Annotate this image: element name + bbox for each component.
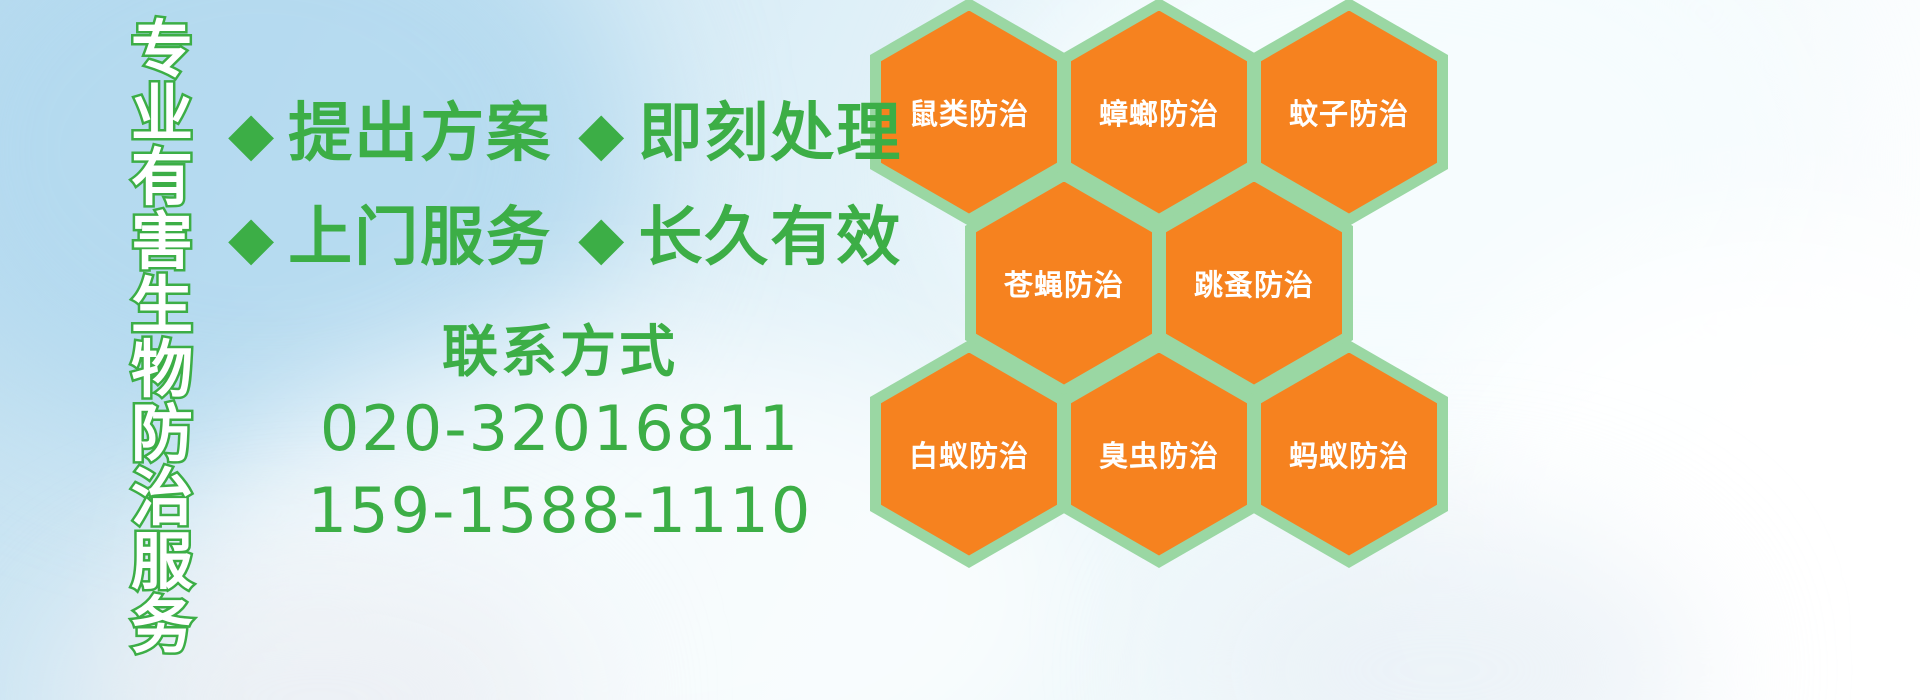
hex-inner: 蟑螂防治 xyxy=(1071,11,1247,214)
contact-label: 联系方式 xyxy=(300,318,820,388)
diamond-bullet-icon: ◆ xyxy=(228,104,274,164)
slogan-text: 上门服务 xyxy=(288,206,552,270)
hex-inner: 臭虫防治 xyxy=(1071,353,1247,556)
diamond-bullet-icon: ◆ xyxy=(578,208,624,268)
slogan-list: ◆ 提出方案 ◆ 即刻处理 ◆ 上门服务 ◆ 长久有效 xyxy=(228,82,928,290)
vertical-headline-char: 务 xyxy=(131,594,193,658)
slogan-text: 长久有效 xyxy=(638,206,902,270)
service-label: 蟑螂防治 xyxy=(1099,91,1219,133)
service-label: 苍蝇防治 xyxy=(1004,262,1124,304)
hex-inner: 蚂蚁防治 xyxy=(1261,353,1437,556)
vertical-headline-char: 防 xyxy=(131,402,193,466)
hex-inner: 蚊子防治 xyxy=(1261,11,1437,214)
service-label: 蚊子防治 xyxy=(1289,91,1409,133)
hex-inner: 苍蝇防治 xyxy=(976,182,1152,385)
background-blob xyxy=(1420,220,1920,700)
contact-block: 联系方式 020-32016811 159-1588-1110 xyxy=(300,318,820,552)
vertical-headline-char: 服 xyxy=(131,530,193,594)
vertical-headline-char: 物 xyxy=(131,338,193,402)
service-honeycomb: 鼠类防治 蟑螂防治 蚊子防治 苍蝇防治 跳蚤防治 白蚁防治 xyxy=(862,0,1462,548)
vertical-headline: 专 业 有 害 生 物 防 治 服 务 xyxy=(108,18,216,678)
vertical-headline-char: 害 xyxy=(131,210,193,274)
slogan-text: 即刻处理 xyxy=(638,102,902,166)
slogan-row: ◆ 提出方案 ◆ 即刻处理 xyxy=(228,82,928,186)
service-label: 白蚁防治 xyxy=(909,433,1029,475)
hex-inner: 白蚁防治 xyxy=(881,353,1057,556)
contact-phone-landline[interactable]: 020-32016811 xyxy=(300,388,820,470)
vertical-headline-char: 专 xyxy=(131,18,193,82)
vertical-headline-char: 治 xyxy=(131,466,193,530)
vertical-headline-char: 生 xyxy=(131,274,193,338)
vertical-headline-char: 有 xyxy=(131,146,193,210)
contact-phone-mobile[interactable]: 159-1588-1110 xyxy=(300,470,820,552)
slogan-row: ◆ 上门服务 ◆ 长久有效 xyxy=(228,186,928,290)
service-label: 臭虫防治 xyxy=(1099,433,1219,475)
vertical-headline-char: 业 xyxy=(131,82,193,146)
hex-inner: 跳蚤防治 xyxy=(1166,182,1342,385)
slogan-text: 提出方案 xyxy=(288,102,552,166)
service-label: 蚂蚁防治 xyxy=(1289,433,1409,475)
service-label: 跳蚤防治 xyxy=(1194,262,1314,304)
diamond-bullet-icon: ◆ xyxy=(228,208,274,268)
pest-control-banner: 专 业 有 害 生 物 防 治 服 务 ◆ 提出方案 ◆ 即刻处理 ◆ 上门服务… xyxy=(0,0,1920,700)
diamond-bullet-icon: ◆ xyxy=(578,104,624,164)
